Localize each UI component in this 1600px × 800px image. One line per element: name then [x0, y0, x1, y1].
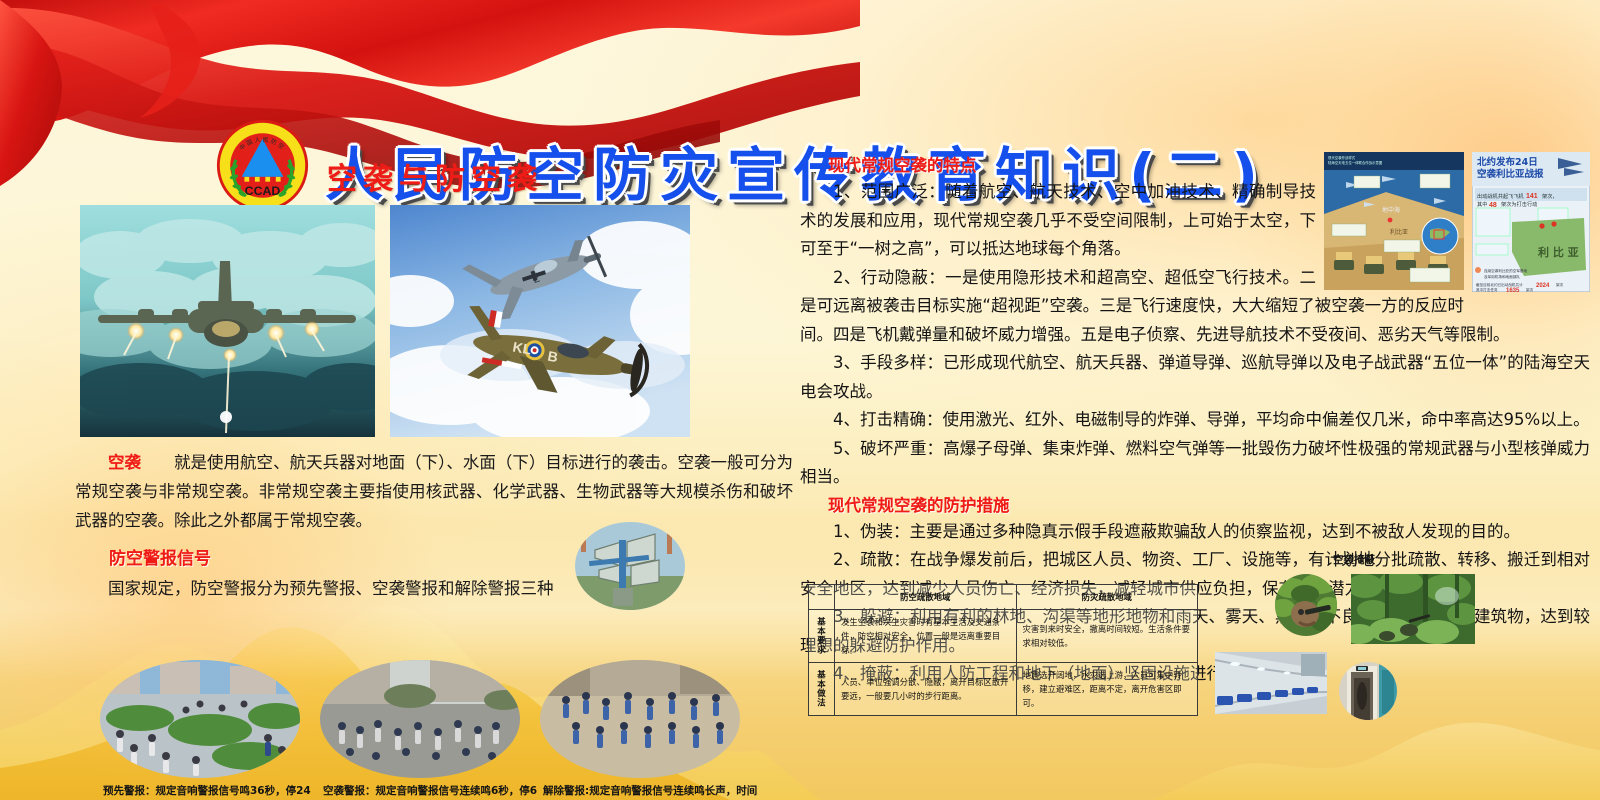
- right-column: 北约发布24日 空袭利比亚战报 出动战机共起飞飞机 141 架次， 其中 48 …: [800, 152, 1590, 792]
- table-row: 基本要求 发生空袭和次生灾害时有基本生活及交通条件，防空相对安全，位置一般是远离…: [809, 610, 1198, 663]
- svg-text:出动战机共起飞飞机: 出动战机共起飞飞机: [1477, 192, 1525, 200]
- news-clip-airstrike-diagram: 现代空袭作战样式 陆海空天电五位一体联合作战示意图: [1324, 152, 1464, 290]
- left-column: 空袭与防空袭: [75, 150, 795, 790]
- table-col-disaster: 防灾疏散地域: [1016, 585, 1198, 610]
- svg-text:其中: 其中: [1477, 200, 1487, 208]
- news-clip-libya-report: 北约发布24日 空袭利比亚战报 出动战机共起飞飞机 141 架次， 其中 48 …: [1472, 152, 1590, 292]
- photo-camouflaged-soldier: [1275, 574, 1337, 636]
- left-body-text: 空袭 就是使用航空、航天兵器对地面（下）、水面（下）目标进行的袭击。空袭一般可分…: [75, 448, 793, 603]
- svg-text:其中打击任务: 其中打击任务: [1476, 287, 1498, 292]
- airstrike-definition-text: 就是使用航空、航天兵器对地面（下）、水面（下）目标进行的袭击。空袭一般可分为常规…: [75, 453, 793, 530]
- airstrike-definition-paragraph: 空袭 就是使用航空、航天兵器对地面（下）、水面（下）目标进行的袭击。空袭一般可分…: [75, 448, 793, 535]
- table-rowlabel-basic-requirement: 基本要求: [809, 610, 835, 663]
- evacuation-comparison-table: 防空疏散地域 防灾疏散地域 基本要求 发生空袭和次生灾害时有基本生活及交通条件，…: [808, 584, 1198, 716]
- svg-text:陆海空天电五位一体联合作战示意图: 陆海空天电五位一体联合作战示意图: [1328, 160, 1383, 165]
- svg-text:架次为打击行动: 架次为打击行动: [1501, 200, 1537, 208]
- svg-text:空袭利比亚战报: 空袭利比亚战报: [1477, 168, 1544, 180]
- alarm-signal-text: 国家规定，防空警报分为预先警报、空袭警报和解除警报三种: [75, 574, 793, 603]
- table-col-airdefense: 防空疏散地域: [835, 585, 1017, 610]
- shelter-cluster-label: 空袭掩蔽: [1333, 552, 1375, 567]
- photo-forest-concealment: [1351, 574, 1475, 644]
- table-header-row: 防空疏散地域 防灾疏散地域: [809, 585, 1198, 610]
- svg-text:架次，: 架次，: [1542, 192, 1558, 200]
- keyword-airstrike: 空袭: [108, 453, 141, 472]
- caption-pre-alarm: 预先警报：规定音响警报信号鸣36秒，停24秒，反复3遍，时间3分钟。: [103, 782, 318, 800]
- caption-airraid-alarm: 空袭警报：规定音响警报信号连续鸣6秒，停6秒，反复3遍，反复15遍为一个周期，时…: [323, 782, 538, 800]
- svg-text:北约发布24日: 北约发布24日: [1477, 156, 1538, 168]
- svg-text:截至目前北约已出动战机共计: 截至目前北约已出动战机共计: [1476, 282, 1523, 287]
- table-cell-req-airdefense: 发生空袭和次生灾害时有基本生活及交通条件，防空相对安全，位置一般是远离重要目标。: [835, 610, 1017, 663]
- caption-all-clear-alarm: 解除警报:规定音响警报信号连续鸣长声，时间3分钟，表示空袭已结束，警报已解除。: [543, 782, 758, 800]
- feature-5: 5、破坏严重：高爆子母弹、集束炸弹、燃料空气弹等一批毁伤力破坏性极强的常规武器与…: [800, 435, 1590, 492]
- svg-text:及军用机场和地面部队: 及军用机场和地面部队: [1484, 274, 1520, 279]
- shelter-photo-cluster: 空袭掩蔽: [1255, 552, 1585, 732]
- svg-text:141: 141: [1526, 193, 1538, 200]
- svg-text:架次: 架次: [1556, 282, 1564, 287]
- photo-underground-shelter-tunnel: [1215, 652, 1327, 714]
- photo-shelter-door: [1339, 662, 1397, 720]
- table-cell-prac-disaster: 地震选开阔地，水灾选上游，人员可集中转移，建立避难区，距离不定，离开危害区即可。: [1016, 663, 1198, 716]
- drill-caption-row: 预先警报：规定音响警报信号鸣36秒，停24秒，反复3遍，时间3分钟。 空袭警报：…: [75, 782, 795, 800]
- svg-text:利比亚: 利比亚: [1390, 228, 1408, 236]
- feature-3: 3、手段多样：已形成现代航空、航天兵器、弹道导弹、巡航导弹以及电子战武器“五位一…: [800, 349, 1590, 406]
- aircraft-photo-row: 2: [80, 205, 780, 440]
- photo-gunship-firing-flares: [80, 205, 375, 437]
- photo-school-assembly-drill: [320, 660, 520, 778]
- photo-students-gathering-ground: [540, 660, 740, 778]
- measure-1: 1、伪装：主要是通过多种隐真示假手段遮蔽欺骗敌人的侦察监视，达到不被敌人发现的目…: [800, 518, 1590, 547]
- svg-text:2024: 2024: [1536, 283, 1550, 289]
- svg-text:KL: KL: [512, 339, 534, 358]
- svg-text:现代空袭作战样式: 现代空袭作战样式: [1328, 155, 1356, 160]
- photo-evacuation-drill-plaza: [100, 660, 300, 778]
- table-cell-prac-airdefense: 人员、单位强调分散、隐蔽，离开目标区散开要远，一般要几小时的步行距离。: [835, 663, 1017, 716]
- photo-ww2-fighters-dogfight: 2: [390, 205, 690, 437]
- measures-heading: 现代常规空袭的防护措施: [800, 492, 1590, 516]
- table-rowlabel-basic-practice: 基本做法: [809, 663, 835, 716]
- alarm-signal-heading: 防空警报信号: [75, 545, 793, 574]
- drill-photo-row: [75, 660, 795, 800]
- svg-text:连续空袭利比亚的空军基地: 连续空袭利比亚的空军基地: [1484, 268, 1528, 273]
- svg-text:利 比 亚: 利 比 亚: [1538, 245, 1579, 259]
- table-row: 基本做法 人员、单位强调分散、隐蔽，离开目标区散开要远，一般要几小时的步行距离。…: [809, 663, 1198, 716]
- svg-text:1635: 1635: [1506, 288, 1520, 292]
- left-section-heading: 空袭与防空袭: [75, 154, 795, 198]
- photo-air-raid-siren: [575, 522, 685, 610]
- svg-text:架次: 架次: [1526, 287, 1534, 292]
- table-cell-req-disaster: 灾害到来时安全，撤离时间较短。生活条件要求相对较低。: [1016, 610, 1198, 663]
- table-corner-cell: [809, 585, 835, 610]
- feature-4: 4、打击精确：使用激光、红外、电磁制导的炸弹、导弹，平均命中偏差仅几米，命中率高…: [800, 406, 1590, 435]
- poster-canvas: CCAD 中 国 人 民 防 空 人民防空防灾宣传教育知识(二) 空袭与防空袭: [0, 0, 1600, 800]
- svg-text:地中海: 地中海: [1382, 206, 1400, 214]
